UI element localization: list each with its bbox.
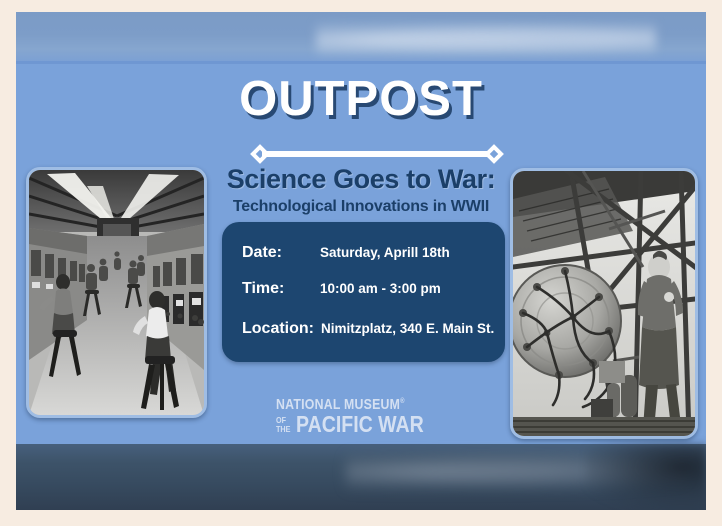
info-row-date: Date: Saturday, Aprill 18th xyxy=(222,244,505,262)
bottom-dark-corner xyxy=(586,444,706,510)
poster-canvas: OUTPOST Science Goes to War: Technologic… xyxy=(16,12,706,510)
location-label: Location: xyxy=(222,320,321,338)
diamond-right-icon xyxy=(484,144,504,164)
title-block: OUTPOST xyxy=(16,74,706,125)
info-row-time: Time: 10:00 am - 3:00 pm xyxy=(222,280,505,298)
museum-logo-pacific-war: PACIFIC WAR xyxy=(296,414,424,435)
bottom-banner-band xyxy=(16,444,706,510)
blurred-top-text xyxy=(316,20,656,54)
museum-logo-line-1: NATIONAL MUSEUM® xyxy=(276,397,416,412)
event-info-panel: Date: Saturday, Aprill 18th Time: 10:00 … xyxy=(222,222,505,362)
date-label: Date: xyxy=(222,244,320,262)
time-value: 10:00 am - 3:00 pm xyxy=(320,281,441,296)
time-label: Time: xyxy=(222,280,320,298)
location-value: Nimitzplatz, 340 E. Main St. xyxy=(321,321,494,336)
calutron-operators-photo xyxy=(26,167,207,418)
flyer-outer-frame: OUTPOST Science Goes to War: Technologic… xyxy=(0,0,722,526)
museum-logo-ofthe: OF THE xyxy=(276,416,290,435)
info-row-location: Location: Nimitzplatz, 340 E. Main St. xyxy=(222,320,505,338)
page-title: OUTPOST xyxy=(16,74,706,125)
museum-logo-line-2: OF THE PACIFIC WAR xyxy=(276,414,446,435)
diamond-divider xyxy=(248,144,506,164)
date-value: Saturday, Aprill 18th xyxy=(320,245,450,260)
top-banner-band xyxy=(16,12,706,62)
calutron-photo-graphic xyxy=(29,170,204,415)
museum-logo: NATIONAL MUSEUM® OF THE PACIFIC WAR xyxy=(16,397,706,435)
top-band-divider xyxy=(16,61,706,64)
museum-logo-the: THE xyxy=(276,425,290,434)
divider-bar xyxy=(262,151,492,157)
registered-mark-icon: ® xyxy=(400,398,404,405)
museum-logo-inner: NATIONAL MUSEUM® OF THE PACIFIC WAR xyxy=(276,397,446,435)
